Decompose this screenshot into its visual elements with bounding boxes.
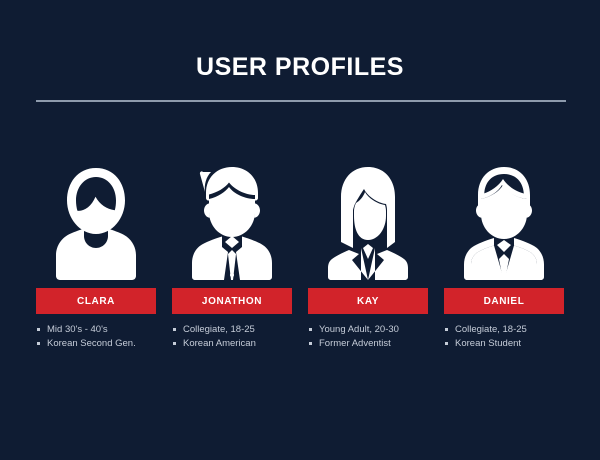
profile-name-bar[interactable]: JONATHON [172, 288, 292, 314]
trait-text: Collegiate, 18-25 [183, 324, 255, 335]
bullet-icon [173, 342, 176, 345]
profile-name-bar[interactable]: DANIEL [444, 288, 564, 314]
list-item: Korean American [172, 337, 292, 351]
trait-text: Korean Student [455, 338, 521, 349]
bullet-icon [445, 328, 448, 331]
list-item: Mid 30's - 40's [36, 323, 156, 337]
profile-traits: Mid 30's - 40's Korean Second Gen. [36, 323, 156, 351]
bullet-icon [173, 328, 176, 331]
user-profiles-slide: USER PROFILES CLARA Mid 30's - 40's Kore… [0, 0, 600, 460]
list-item: Korean Student [444, 337, 564, 351]
trait-text: Mid 30's - 40's [47, 324, 108, 335]
trait-text: Young Adult, 20-30 [319, 324, 399, 335]
profile-list: CLARA Mid 30's - 40's Korean Second Gen. [36, 160, 564, 351]
bullet-icon [309, 342, 312, 345]
list-item: Korean Second Gen. [36, 337, 156, 351]
profile-traits: Young Adult, 20-30 Former Adventist [308, 323, 428, 351]
profile-card-daniel[interactable]: DANIEL Collegiate, 18-25 Korean Student [444, 160, 564, 351]
list-item: Collegiate, 18-25 [172, 323, 292, 337]
bullet-icon [445, 342, 448, 345]
woman-long-hair-blazer-avatar-icon [312, 160, 424, 282]
page-title: USER PROFILES [0, 55, 600, 80]
profile-name-bar[interactable]: CLARA [36, 288, 156, 314]
man-shirt-tie-avatar-icon [448, 160, 560, 282]
bullet-icon [309, 328, 312, 331]
trait-text: Collegiate, 18-25 [455, 324, 527, 335]
trait-text: Korean American [183, 338, 256, 349]
title-divider [36, 100, 566, 102]
profile-name-bar[interactable]: KAY [308, 288, 428, 314]
list-item: Young Adult, 20-30 [308, 323, 428, 337]
profile-card-kay[interactable]: KAY Young Adult, 20-30 Former Adventist [308, 160, 428, 351]
woman-bob-hair-avatar-icon [40, 160, 152, 282]
list-item: Former Adventist [308, 337, 428, 351]
profile-card-clara[interactable]: CLARA Mid 30's - 40's Korean Second Gen. [36, 160, 156, 351]
profile-card-jonathon[interactable]: JONATHON Collegiate, 18-25 Korean Americ… [172, 160, 292, 351]
bullet-icon [37, 342, 40, 345]
profile-traits: Collegiate, 18-25 Korean Student [444, 323, 564, 351]
bullet-icon [37, 328, 40, 331]
profile-traits: Collegiate, 18-25 Korean American [172, 323, 292, 351]
list-item: Collegiate, 18-25 [444, 323, 564, 337]
trait-text: Korean Second Gen. [47, 338, 136, 349]
trait-text: Former Adventist [319, 338, 391, 349]
man-tuxedo-bowtie-avatar-icon [176, 160, 288, 282]
